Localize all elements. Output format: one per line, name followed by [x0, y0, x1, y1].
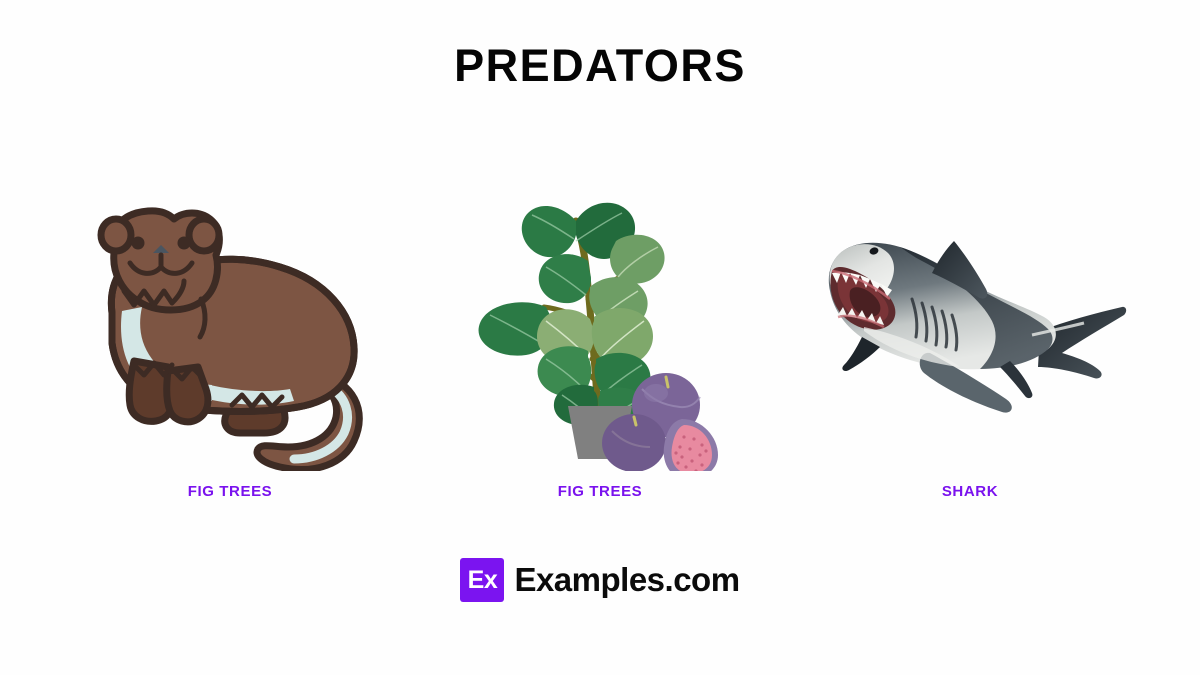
examples-logo[interactable]: Ex Examples.com: [0, 558, 1200, 602]
fig-tree-illustration-wrapper: [430, 191, 770, 471]
predator-card-fig-tree[interactable]: FIG TREES: [430, 170, 770, 500]
predator-card-otter[interactable]: FIG TREES: [60, 170, 400, 500]
otter-icon: [60, 191, 400, 471]
fig-tree-icon: [430, 191, 770, 471]
card-label-shark: SHARK: [942, 483, 998, 500]
card-label-otter: FIG TREES: [188, 483, 273, 500]
predator-cards-row: FIG TREES: [60, 170, 1140, 500]
page-title: PREDATORS: [0, 40, 1200, 92]
logo-text: Examples.com: [514, 561, 739, 599]
card-label-fig-tree: FIG TREES: [558, 483, 643, 500]
predator-card-shark[interactable]: SHARK: [800, 170, 1140, 500]
shark-icon: [800, 191, 1140, 471]
shark-illustration-wrapper: [800, 191, 1140, 471]
logo-mark: Ex: [460, 558, 504, 602]
otter-illustration-wrapper: [60, 191, 400, 471]
infographic-page: PREDATORS: [0, 0, 1200, 675]
